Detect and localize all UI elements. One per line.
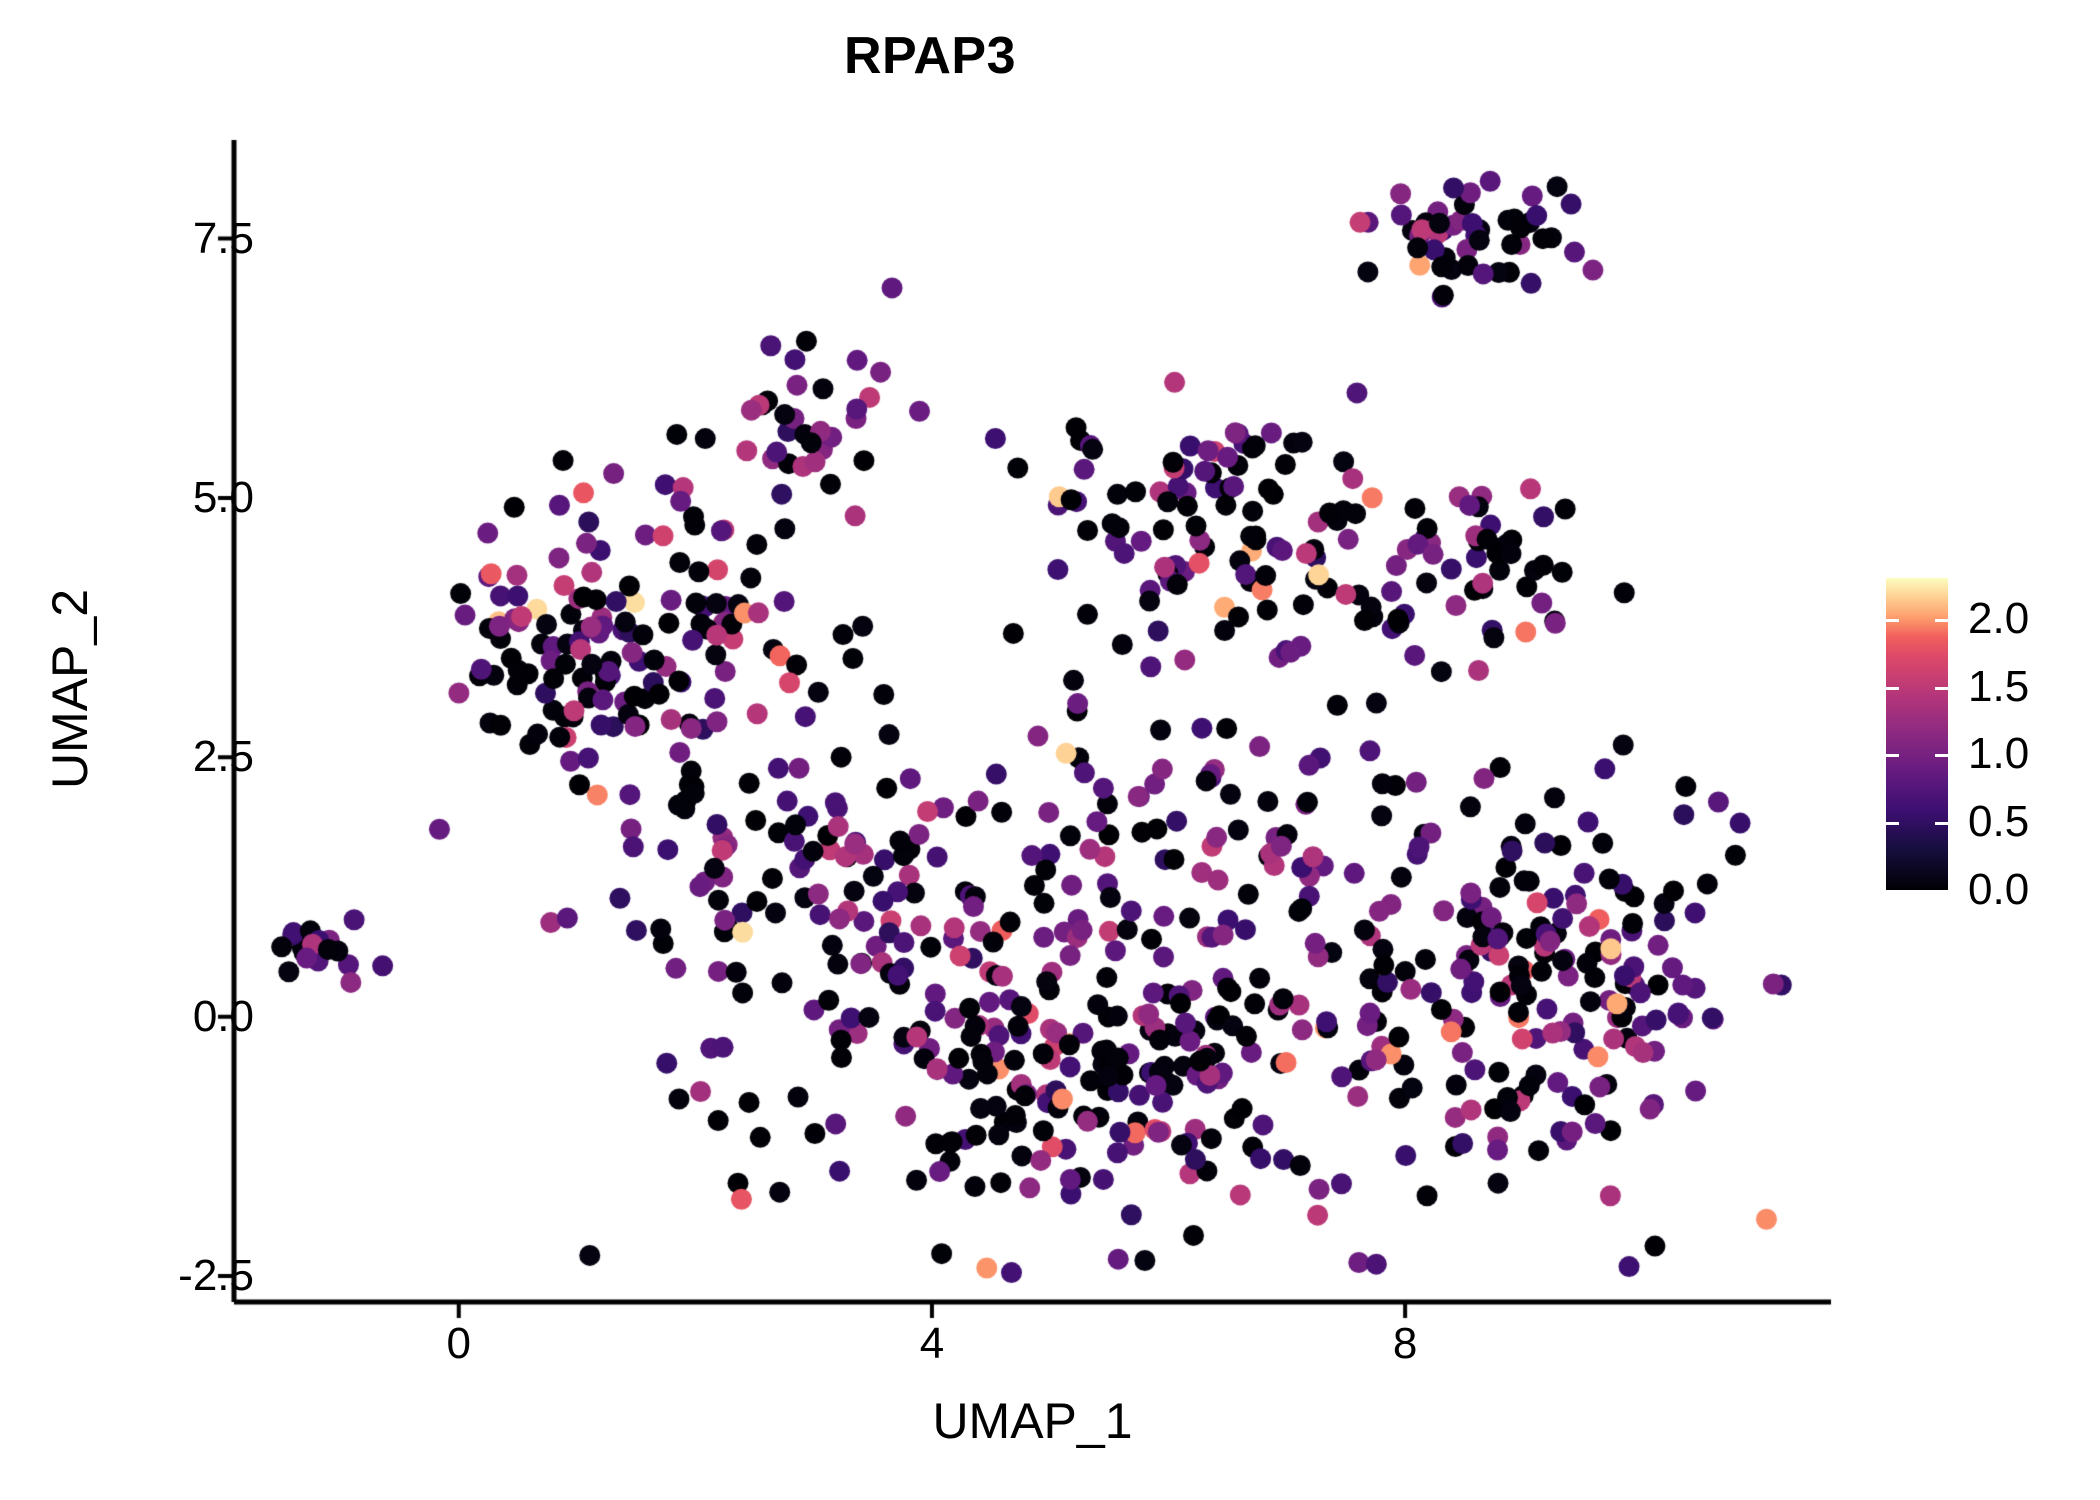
y-tick--2.5: -2.5 [178, 1254, 254, 1298]
scatter-plot-canvas [0, 0, 2100, 1500]
umap-scatter-plot: RPAP3 UMAP_2 UMAP_1 -2.50.02.55.07.5 048… [0, 0, 2100, 1500]
colorbar-tick-mark [1886, 619, 1899, 622]
y-tick-2.5: 2.5 [193, 735, 254, 779]
colorbar-tick-mark [1935, 890, 1948, 893]
colorbar-tick-mark [1886, 890, 1899, 893]
colorbar-label-1.0: 1.0 [1968, 732, 2029, 776]
colorbar-gradient [1886, 578, 1948, 890]
colorbar-tick-mark [1935, 687, 1948, 690]
colorbar-label-0.0: 0.0 [1968, 868, 2029, 912]
colorbar-tick-mark [1935, 754, 1948, 757]
x-tick-0: 0 [399, 1322, 519, 1366]
y-tick-7.5: 7.5 [193, 217, 254, 261]
x-tick-8: 8 [1345, 1322, 1465, 1366]
colorbar-tick-mark [1935, 619, 1948, 622]
x-axis-title: UMAP_1 [234, 1392, 1831, 1450]
x-tick-4: 4 [872, 1322, 992, 1366]
y-tick-5.0: 5.0 [193, 476, 254, 520]
colorbar-label-0.5: 0.5 [1968, 800, 2029, 844]
colorbar-label-2.0: 2.0 [1968, 597, 2029, 641]
colorbar-tick-mark [1935, 822, 1948, 825]
y-axis-title: UMAP_2 [41, 389, 99, 989]
colorbar-label-1.5: 1.5 [1968, 665, 2029, 709]
colorbar-tick-mark [1886, 687, 1899, 690]
colorbar-tick-mark [1886, 754, 1899, 757]
y-tick-0.0: 0.0 [193, 995, 254, 1039]
colorbar-tick-mark [1886, 822, 1899, 825]
